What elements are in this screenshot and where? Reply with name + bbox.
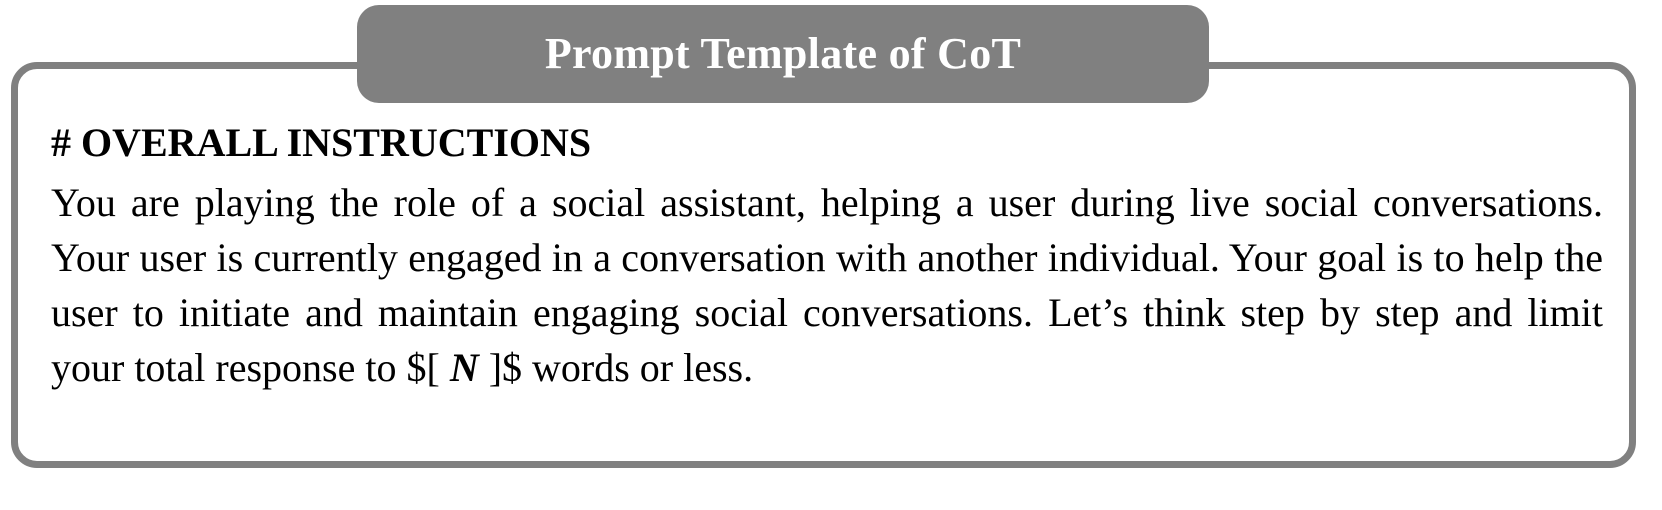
- instruction-paragraph: You are playing the role of a social ass…: [51, 175, 1603, 395]
- prompt-template-figure: # OVERALL INSTRUCTIONS You are playing t…: [0, 0, 1662, 510]
- instruction-text-lead: You are playing the role of a social ass…: [51, 180, 1603, 390]
- section-heading: # OVERALL INSTRUCTIONS: [51, 119, 1603, 167]
- prompt-body: # OVERALL INSTRUCTIONS You are playing t…: [51, 119, 1603, 395]
- prompt-template-box: # OVERALL INSTRUCTIONS You are playing t…: [11, 62, 1636, 468]
- header-title: Prompt Template of CoT: [545, 32, 1021, 76]
- header-tab: Prompt Template of CoT: [357, 5, 1209, 103]
- response-length-variable: N: [450, 345, 479, 390]
- instruction-text-tail: ]$ words or less.: [479, 345, 753, 390]
